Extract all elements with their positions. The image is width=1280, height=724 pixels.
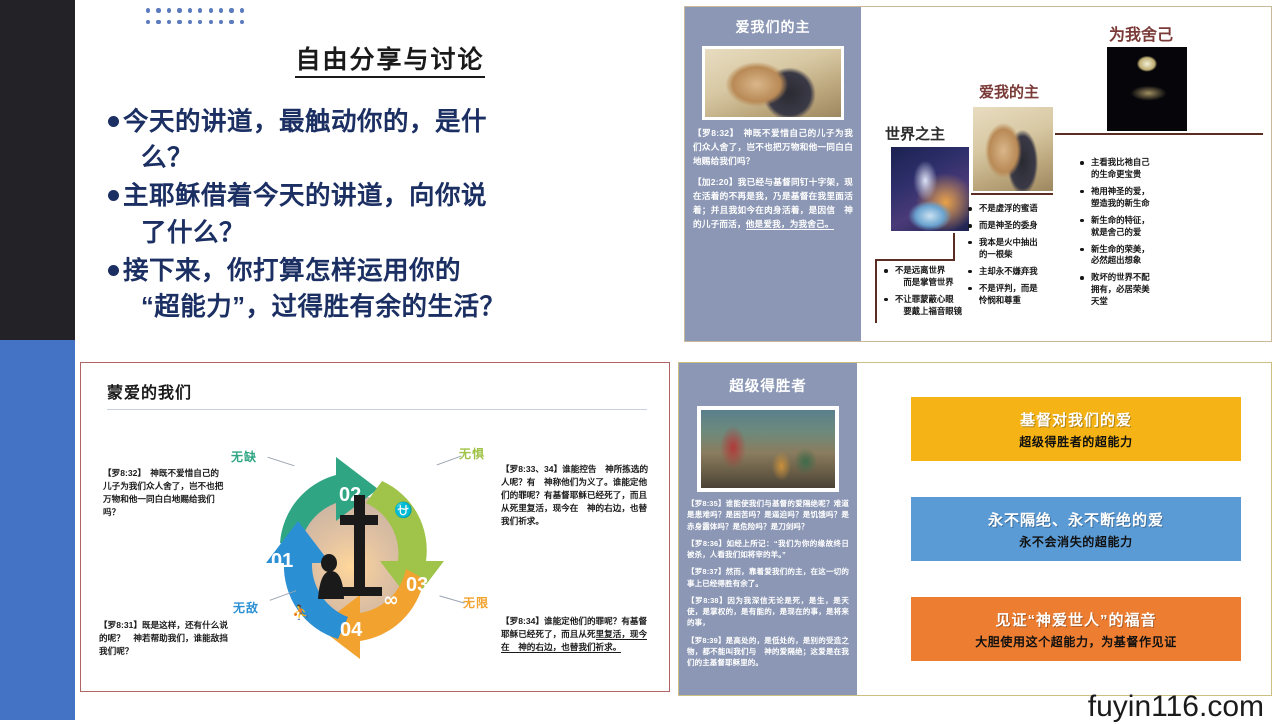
callout-subtitle: 永不会消失的超能力 bbox=[1019, 533, 1132, 550]
list-item: 主看我比祂自己的生命更宝贵 bbox=[1079, 157, 1179, 181]
callout-box-witness-gospel: 见证“神爱世人”的福音 大胆使用这个超能力，为基督作见证 bbox=[911, 597, 1241, 661]
callout-box-christs-love: 基督对我们的爱 超级得胜者的超能力 bbox=[911, 397, 1241, 461]
jesus-embracing-person-photo bbox=[702, 46, 844, 120]
panel-tr-verse-1: 【罗8:32】 神既不爱惜自己的儿子为我们众人舍了，岂不也把万物和他一同白白地赐… bbox=[693, 127, 853, 169]
question-text: 接下来，你打算怎样运用你的 “超能力”，过得胜有余的生活？ bbox=[123, 253, 506, 325]
bullet-dot-icon bbox=[108, 265, 119, 276]
svg-text:04: 04 bbox=[340, 619, 363, 641]
discussion-question-list: 今天的讲道，最触动你的，是什 么？ 主耶稣借着今天的讲道，向你说 了什么？ 接下… bbox=[108, 104, 668, 327]
slide-title: 自由分享与讨论 bbox=[120, 40, 660, 76]
question-line-2: 么？ bbox=[123, 140, 487, 176]
segment-label-01: 无敌 bbox=[233, 599, 259, 616]
list-item: 祂用神圣的爱，塑造我的新生命 bbox=[1079, 186, 1179, 210]
left-sidebar-blue-band bbox=[0, 340, 75, 720]
bullet-dot-icon bbox=[108, 190, 119, 201]
dot-row-2 bbox=[146, 20, 244, 25]
verse-block-bottom-left: 【罗8:31】既是这样，还有什么说的呢？ 神若帮助我们，谁能敌挡我们呢？ bbox=[99, 619, 231, 658]
panel-br-verse: 【罗8:35】谁能使我们与基督的爱隔绝呢？难道是患难吗？是困苦吗？是逼迫吗？是饥… bbox=[687, 498, 849, 532]
segment-label-03: 无惧 bbox=[459, 445, 485, 462]
panel-tr-staircase: 世界之主 不是远离世界 而是掌管世界 不让罪蒙蔽心眼 要戴上福音眼镜 爱我的主 … bbox=[861, 7, 1271, 341]
verse-2-underlined: 他是爱我，为我舍己。 bbox=[746, 219, 834, 230]
question-line-2: 了什么？ bbox=[123, 215, 487, 251]
panel-lord-who-loves-us: 爱我们的主 【罗8:32】 神既不爱惜自己的儿子为我们众人舍了，岂不也把万物和他… bbox=[684, 6, 1272, 342]
list-item: 今天的讲道，最触动你的，是什 么？ bbox=[108, 104, 668, 176]
list-item: 而是神圣的委身 bbox=[967, 220, 1063, 232]
list-item: 败坏的世界不配拥有，必居荣美天堂 bbox=[1079, 272, 1179, 308]
list-item: 新生命的特征，就是舍己的爱 bbox=[1079, 215, 1179, 239]
callout-subtitle: 大胆使用这个超能力，为基督作见证 bbox=[975, 633, 1177, 650]
step-heading-my-loving-lord: 爱我的主 bbox=[979, 81, 1039, 102]
callout-title: 基督对我们的爱 bbox=[1020, 409, 1132, 430]
svg-text:∞: ∞ bbox=[383, 589, 399, 611]
svg-text:⚘: ⚘ bbox=[294, 479, 307, 497]
slide-title-text: 自由分享与讨论 bbox=[295, 46, 484, 78]
list-item: 接下来，你打算怎样运用你的 “超能力”，过得胜有余的生活？ bbox=[108, 253, 668, 325]
panel-we-who-are-loved: 蒙爱的我们 02 bbox=[80, 362, 670, 692]
panel-super-conqueror: 超级得胜者 【罗8:35】谁能使我们与基督的爱隔绝呢？难道是患难吗？是困苦吗？是… bbox=[678, 362, 1272, 696]
segment-label-02: 无缺 bbox=[231, 448, 257, 465]
question-line-1: 主耶稣借着今天的讲道，向你说 bbox=[123, 182, 487, 210]
cycle-diagram: 02 03 04 01 ∞ ⚘ ⛎ ⛹ bbox=[228, 431, 478, 681]
segment-label-04: 无限 bbox=[463, 594, 489, 611]
jesus-embracing-person-photo bbox=[971, 105, 1055, 193]
list-item: 不是虚浮的蜜语 bbox=[967, 203, 1063, 215]
verse-block-bottom-right: 【罗8:34】谁能定他们的罪呢？有基督耶稣已经死了，而且从死里复活，现今在 神的… bbox=[501, 615, 653, 654]
svg-text:03: 03 bbox=[406, 574, 428, 596]
panel-br-verse: 【罗8:36】如经上所记：“我们为你的缘故终日被杀，人看我们如将宰的羊。” bbox=[687, 538, 849, 561]
callout-title: 永不隔绝、永不断绝的爱 bbox=[988, 509, 1164, 530]
left-sidebar-dark-band bbox=[0, 0, 75, 340]
callout-subtitle: 超级得胜者的超能力 bbox=[1019, 433, 1132, 450]
callout-box-unbreakable-love: 永不隔绝、永不断绝的爱 永不会消失的超能力 bbox=[911, 497, 1241, 561]
svg-text:⛎: ⛎ bbox=[394, 501, 413, 519]
question-line-1: 接下来，你打算怎样运用你的 bbox=[123, 257, 461, 285]
crucifixion-dark-photo bbox=[1107, 47, 1187, 131]
panel-tr-verse-2: 【加2:20】我已经与基督同钉十字架，现在活着的不再是我，乃是基督在我里面活着；… bbox=[693, 176, 853, 232]
dot-row-1 bbox=[146, 8, 244, 13]
site-watermark: fuyin116.com bbox=[1088, 690, 1264, 724]
panel-tr-sidebar: 爱我们的主 【罗8:32】 神既不爱惜自己的儿子为我们众人舍了，岂不也把万物和他… bbox=[685, 7, 861, 341]
slide-canvas: 自由分享与讨论 今天的讲道，最触动你的，是什 么？ 主耶稣借着今天的讲道，向你说… bbox=[0, 0, 1280, 720]
panel-br-verse: 【罗8:38】因为我深信无论是死，是生，是天使，是掌权的，是有能的，是现在的事，… bbox=[687, 595, 849, 629]
question-text: 今天的讲道，最触动你的，是什 么？ bbox=[123, 104, 487, 176]
decorative-dots bbox=[146, 8, 244, 31]
panel-br-sidebar: 超级得胜者 【罗8:35】谁能使我们与基督的爱隔绝呢？难道是患难吗？是困苦吗？是… bbox=[679, 363, 857, 695]
panel-br-verse: 【罗8:37】然而，靠着爱我们的主，在这一切的事上已经得胜有余了。 bbox=[687, 566, 849, 589]
verse-block-top-left: 【罗8:32】 神既不爱惜自己的儿子为我们众人舍了，岂不也把万物和他一同白白地赐… bbox=[103, 467, 225, 519]
panel-bl-title: 蒙爱的我们 bbox=[107, 379, 192, 403]
step-heading-gave-himself: 为我舍己 bbox=[1109, 21, 1173, 45]
svg-text:01: 01 bbox=[271, 550, 293, 572]
step-list-my-loving-lord: 不是虚浮的蜜语 而是神圣的委身 我本是火中抽出的一根柴 主却永不嫌弃我 不是评判… bbox=[967, 203, 1063, 311]
question-line-1: 今天的讲道，最触动你的，是什 bbox=[123, 108, 487, 136]
callout-title: 见证“神爱世人”的福音 bbox=[995, 609, 1156, 630]
paul-preaching-at-athens-photo bbox=[697, 406, 839, 492]
bullet-dot-icon bbox=[108, 116, 119, 127]
panel-br-verse: 【罗8:39】是高处的，是低处的，是别的受造之物，都不能叫我们与 神的爱隔绝；这… bbox=[687, 635, 849, 669]
step-list-gave-himself: 主看我比祂自己的生命更宝贵 祂用神圣的爱，塑造我的新生命 新生命的特征，就是舍己… bbox=[1079, 157, 1179, 313]
list-item: 新生命的荣美，必然超出想象 bbox=[1079, 244, 1179, 268]
panel-br-title: 超级得胜者 bbox=[687, 375, 849, 396]
list-item: 我本是火中抽出的一根柴 bbox=[967, 237, 1063, 261]
jesus-over-earth-photo bbox=[889, 145, 971, 233]
panel-tr-title: 爱我们的主 bbox=[693, 17, 853, 37]
verse-block-top-right: 【罗8:33、34】谁能控告 神所拣选的人呢？有 神称他们为义了。谁能定他们的罪… bbox=[501, 463, 653, 527]
list-item: 主耶稣借着今天的讲道，向你说 了什么？ bbox=[108, 178, 668, 250]
step-heading-world-lord: 世界之主 bbox=[885, 123, 945, 144]
question-line-2: “超能力”，过得胜有余的生活？ bbox=[123, 289, 506, 325]
svg-text:⛹: ⛹ bbox=[292, 603, 309, 621]
question-text: 主耶稣借着今天的讲道，向你说 了什么？ bbox=[123, 178, 487, 250]
title-divider bbox=[107, 409, 647, 410]
list-item: 不是评判，而是怜悯和尊重 bbox=[967, 283, 1063, 307]
list-item: 主却永不嫌弃我 bbox=[967, 266, 1063, 278]
